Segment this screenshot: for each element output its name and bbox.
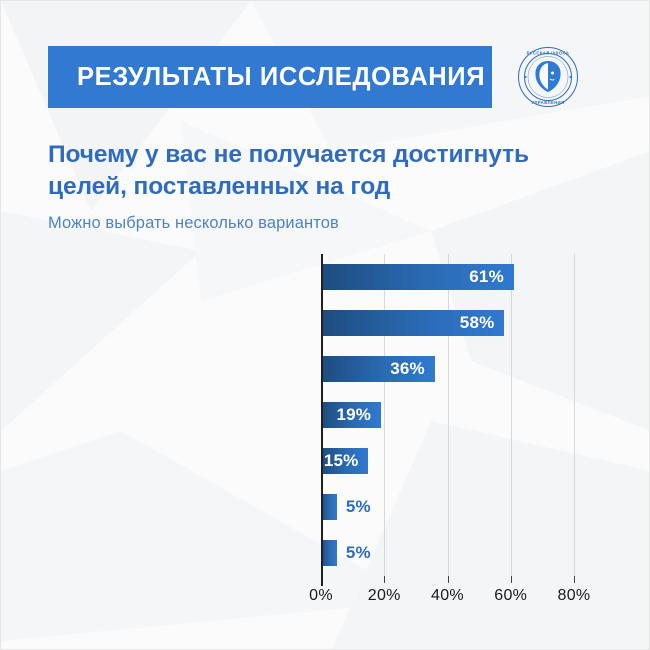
bar	[321, 494, 337, 520]
x-axis-tick	[384, 576, 385, 583]
bar: 36%	[321, 356, 435, 382]
bar-value-label: 5%	[346, 540, 371, 566]
x-axis-tick	[511, 576, 512, 583]
bar-row: Цели забываются5%	[321, 484, 574, 530]
x-axis-tick	[321, 576, 323, 586]
russian-school-of-management-logo: РУССКАЯ ШКОЛА УПРАВЛЕНИЯ	[517, 46, 579, 108]
x-axis-tick-label: 60%	[481, 587, 541, 605]
logo-text-top: РУССКАЯ ШКОЛА	[527, 51, 570, 56]
x-axis-tick	[574, 576, 575, 583]
bar-row: Не хватает знаний и навыков,необходимых …	[321, 346, 574, 392]
logo-text-bottom: УПРАВЛЕНИЯ	[531, 100, 564, 105]
x-axis-tick-label: 40%	[418, 587, 478, 605]
x-axis-tick	[448, 576, 449, 583]
bar-value-label: 19%	[336, 405, 381, 425]
bar: 15%	[321, 448, 368, 474]
infographic-canvas: РЕЗУЛЬТАТЫ ИССЛЕДОВАНИЯ РУССКАЯ ШКОЛА УП…	[0, 0, 650, 650]
page-subtitle: Можно выбрать несколько вариантов	[48, 214, 339, 233]
bar-value-label: 58%	[460, 313, 505, 333]
bar	[321, 540, 337, 566]
y-axis-line	[321, 254, 323, 576]
bar-value-label: 5%	[346, 494, 371, 520]
bar-row: Не хватает ресурсов(материальных, времен…	[321, 300, 574, 346]
page-title: Почему у вас не получается достигнуть це…	[48, 139, 608, 204]
bar-value-label: 15%	[324, 451, 369, 471]
plot-area: Меняются приоритеты61%Не хватает ресурсо…	[321, 254, 574, 576]
bar-value-label: 36%	[390, 359, 435, 379]
bar-value-label: 61%	[469, 267, 514, 287]
bar-chart: Меняются приоритеты61%Не хватает ресурсо…	[1, 249, 650, 599]
x-axis-tick-label: 20%	[354, 587, 414, 605]
x-axis-tick-label: 80%	[544, 587, 604, 605]
header-banner-label: РЕЗУЛЬТАТЫ ИССЛЕДОВАНИЯ	[48, 63, 485, 92]
bar: 61%	[321, 264, 514, 290]
header-banner: РЕЗУЛЬТАТЫ ИССЛЕДОВАНИЯ	[48, 46, 492, 108]
bar-row: Другое5%	[321, 530, 574, 576]
bar-row: Нет конкретного планадостижения цели19%	[321, 392, 574, 438]
bar: 58%	[321, 310, 504, 336]
x-axis-tick-label: 0%	[291, 587, 351, 605]
bar-row: Нет мотивации15%	[321, 438, 574, 484]
gridline-80	[574, 254, 575, 576]
bar-row: Меняются приоритеты61%	[321, 254, 574, 300]
bar: 19%	[321, 402, 381, 428]
